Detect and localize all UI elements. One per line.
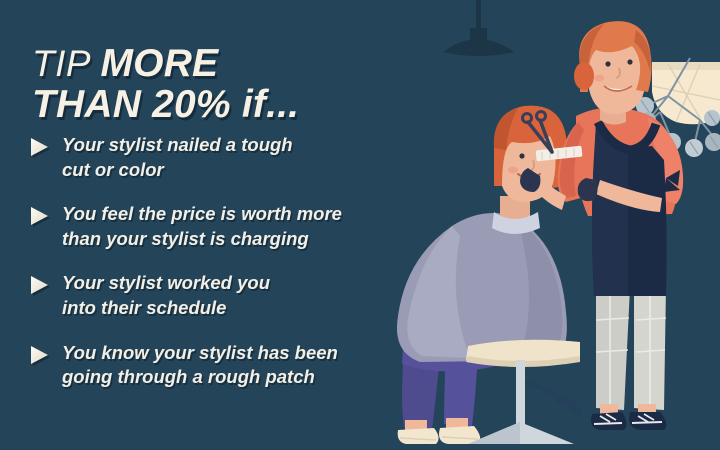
infographic-canvas: TIP MORE THAN 20% if... [0, 0, 720, 450]
bullet-list: Your stylist nailed a tough cut or color… [28, 133, 418, 390]
list-item-label: Your stylist nailed a tough cut or color [62, 133, 293, 182]
headline-line-1: TIP MORE [32, 44, 299, 85]
list-item-label: You know your stylist has been going thr… [62, 341, 338, 390]
triangle-right-icon [28, 205, 50, 227]
headline-line-2: THAN 20% if... [32, 85, 299, 126]
list-item-line-1: You know your stylist has been [62, 342, 338, 363]
list-item-line-1: You feel the price is worth more [62, 203, 342, 224]
headline-tip: TIP [32, 43, 100, 84]
list-item-line-1: Your stylist worked you [62, 272, 270, 293]
list-item: You feel the price is worth more than yo… [28, 202, 418, 251]
list-item-label: You feel the price is worth more than yo… [62, 202, 342, 251]
list-item-line-2: going through a rough patch [62, 366, 315, 387]
list-item: You know your stylist has been going thr… [28, 341, 418, 390]
list-item-line-1: Your stylist nailed a tough [62, 134, 293, 155]
triangle-right-icon [28, 274, 50, 296]
list-item-line-2: cut or color [62, 159, 164, 180]
list-item-line-2: into their schedule [62, 297, 226, 318]
headline-more: MORE [100, 42, 218, 85]
list-item: Your stylist nailed a tough cut or color [28, 133, 418, 182]
triangle-right-icon [28, 344, 50, 366]
list-item-label: Your stylist worked you into their sched… [62, 271, 270, 320]
list-item-line-2: than your stylist is charging [62, 228, 309, 249]
triangle-right-icon [28, 136, 50, 158]
text-column: TIP MORE THAN 20% if... [0, 0, 420, 450]
list-item: Your stylist worked you into their sched… [28, 271, 418, 320]
page-title: TIP MORE THAN 20% if... [32, 44, 299, 125]
